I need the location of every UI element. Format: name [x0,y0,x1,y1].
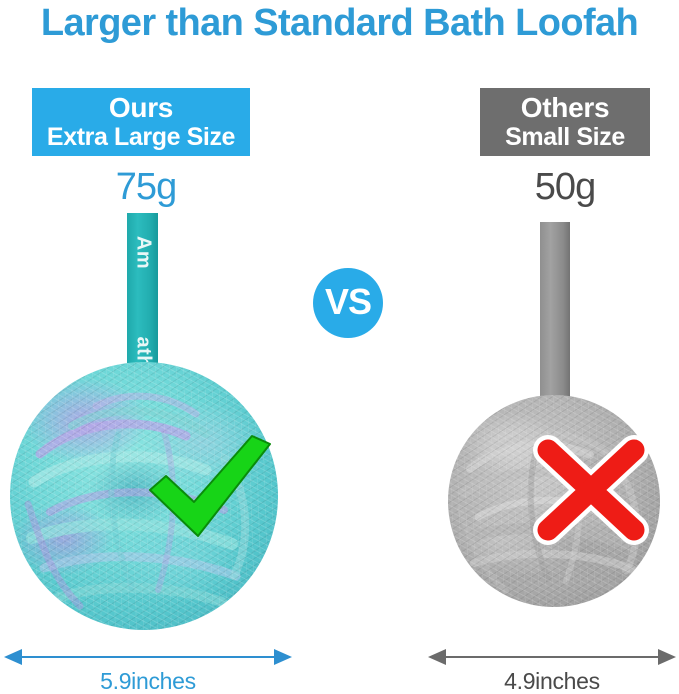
others-dimension-arrow-icon [428,648,676,666]
ours-weight-label: 75g [96,166,196,209]
ours-plate-title: Ours [109,94,173,123]
check-icon [146,432,274,544]
others-label-plate: Others Small Size [480,88,650,156]
others-plate-subtitle: Small Size [505,125,625,151]
cross-icon [530,434,652,546]
page-title: Larger than Standard Bath Loofah [0,2,679,45]
versus-label: VS [325,284,371,320]
others-weight-label: 50g [515,166,615,209]
ours-dimension-arrow-icon [4,648,292,666]
ours-strap-brand-text-top: Am [131,236,154,269]
others-hanging-strap [540,222,570,400]
versus-badge: VS [313,268,383,338]
ours-label-plate: Ours Extra Large Size [32,88,250,156]
others-dimension-label: 4.9inches [428,668,676,694]
ours-dimension-measure: 5.9inches [4,648,292,671]
others-dimension-measure: 4.9inches [428,648,676,671]
ours-dimension-label: 5.9inches [4,668,292,694]
ours-plate-subtitle: Extra Large Size [47,125,235,151]
product-comparison-infographic: Larger than Standard Bath Loofah Ours Ex… [0,0,679,694]
others-plate-title: Others [521,94,609,123]
